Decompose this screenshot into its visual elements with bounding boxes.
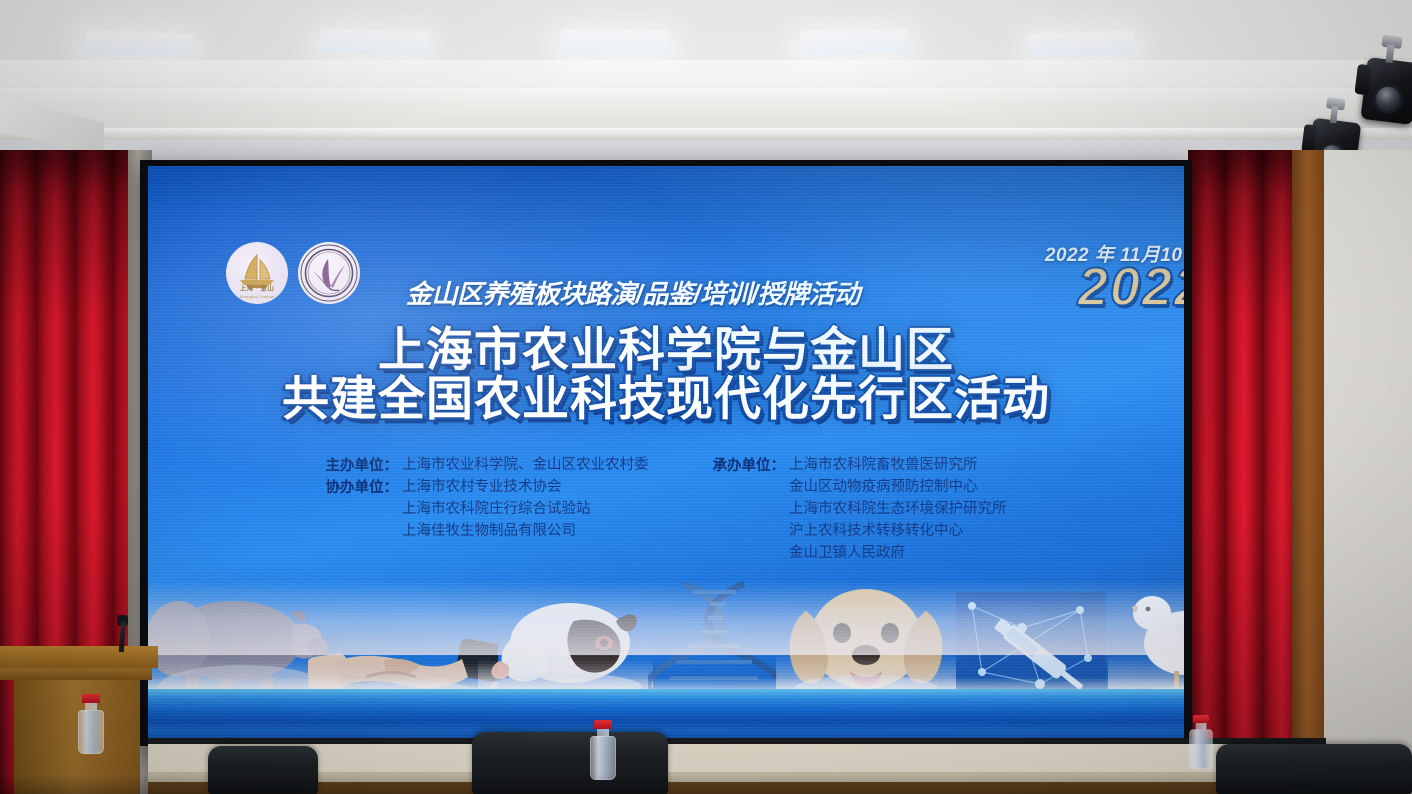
spotlight-stem xyxy=(1385,44,1394,63)
organizer-line: 金山区动物疫病预防控制中心 xyxy=(789,476,1007,498)
logo-label-cn: 上海 · 金山 xyxy=(226,282,288,292)
podium-lip xyxy=(0,668,152,680)
spotlight-stem xyxy=(1330,106,1338,123)
organizer-group: 协办单位： 上海市农村专业技术协会 上海市农科院庄行综合试验站 上海佳牧生物制品… xyxy=(326,476,649,542)
organizer-group: 主办单位： 上海市农业科学院、金山区农业农村委 xyxy=(326,454,649,476)
organizer-group: 承办单位： 上海市农科院畜牧兽医研究所 金山区动物疫病预防控制中心 上海市农科院… xyxy=(713,454,1007,564)
event-title: 上海市农业科学院与金山区 共建全国农业科技现代化先行区活动 xyxy=(148,326,1184,424)
orchid-emblem-icon xyxy=(298,242,360,304)
organizer-column-left: 主办单位： 上海市农业科学院、金山区农业农村委 协办单位： 上海市农村专业技术协… xyxy=(326,454,649,564)
organizer-line: 上海市农科院畜牧兽医研究所 xyxy=(789,454,1007,476)
organizer-label: 协办单位： xyxy=(326,476,399,542)
organizer-label: 承办单位： xyxy=(713,454,786,564)
led-screen: 上海 · 金山 Shanghai Jinshan xyxy=(148,166,1184,741)
orchid-institute-logo xyxy=(298,242,360,304)
organizer-blocks: 主办单位： 上海市农业科学院、金山区农业农村委 协办单位： 上海市农村专业技术协… xyxy=(148,454,1184,564)
ceiling-panel-light xyxy=(560,30,668,54)
event-title-line2: 共建全国农业科技现代化先行区活动 xyxy=(148,375,1184,424)
ceiling-panel-light xyxy=(799,29,908,55)
spotlight-lens xyxy=(1371,82,1404,115)
water-bottle xyxy=(590,720,616,780)
ceiling-panel-light xyxy=(1027,30,1137,58)
ceiling-panel-light xyxy=(319,29,429,55)
event-year: 2022 xyxy=(1078,260,1184,314)
bottle-body xyxy=(78,710,104,754)
podium xyxy=(0,646,148,794)
bottle-body xyxy=(1189,729,1212,769)
ceiling-lip xyxy=(0,60,1412,90)
water-bottle xyxy=(78,694,104,754)
podium-top xyxy=(0,646,158,668)
stage-spotlight-icon xyxy=(1360,57,1412,125)
floor-shadow xyxy=(0,774,1412,794)
organizer-line: 金山卫镇人民政府 xyxy=(789,542,1007,564)
organizer-values: 上海市农科院畜牧兽医研究所 金山区动物疫病预防控制中心 上海市农科院生态环境保护… xyxy=(789,454,1007,564)
wood-column-right xyxy=(1292,150,1326,794)
organizer-values: 上海市农业科学院、金山区农业农村委 xyxy=(402,454,649,476)
water-bottle xyxy=(1189,715,1212,769)
bottle-cap xyxy=(594,720,612,729)
organizer-column-right: 承办单位： 上海市农科院畜牧兽医研究所 金山区动物疫病预防控制中心 上海市农科院… xyxy=(713,454,1007,564)
strip-haze xyxy=(148,581,1184,655)
event-title-line1: 上海市农业科学院与金山区 xyxy=(148,326,1184,375)
spotlight-yoke xyxy=(1301,124,1317,153)
ceiling-panel-light xyxy=(82,30,193,58)
logo-group: 上海 · 金山 Shanghai Jinshan xyxy=(226,242,360,304)
spotlight-yoke xyxy=(1354,64,1372,95)
screen-header: 2022 年 11月10日 金山区养殖板块路演/品鉴/培训/授牌活动 2022 xyxy=(406,256,1184,316)
organizer-label: 主办单位： xyxy=(326,454,399,476)
bottle-neck xyxy=(85,703,97,710)
logo-label-en: Shanghai Jinshan xyxy=(226,294,288,299)
organizer-line: 上海佳牧生物制品有限公司 xyxy=(402,520,591,542)
led-screen-bezel: 上海 · 金山 Shanghai Jinshan xyxy=(140,160,1192,746)
water-band xyxy=(148,689,1184,741)
bottle-cap xyxy=(1193,715,1209,723)
conference-hall-photo: 上海 · 金山 Shanghai Jinshan xyxy=(0,0,1412,794)
bottle-neck xyxy=(597,729,609,736)
photo-montage-strip xyxy=(148,581,1184,741)
shanghai-jinshan-sailboat-logo: 上海 · 金山 Shanghai Jinshan xyxy=(226,242,288,304)
organizer-line: 沪上农科技术转移转化中心 xyxy=(789,520,1007,542)
event-subtitle: 金山区养殖板块路演/品鉴/培训/授牌活动 xyxy=(406,274,860,311)
organizer-line: 上海市农科院生态环境保护研究所 xyxy=(789,498,1007,520)
ceiling-edge xyxy=(0,128,1412,138)
organizer-line: 上海市农村专业技术协会 xyxy=(402,476,591,498)
bottle-cap xyxy=(82,694,100,703)
organizer-line: 上海市农业科学院、金山区农业农村委 xyxy=(402,454,649,476)
side-wall-right xyxy=(1324,150,1412,794)
organizer-values: 上海市农村专业技术协会 上海市农科院庄行综合试验站 上海佳牧生物制品有限公司 xyxy=(402,476,591,542)
organizer-line: 上海市农科院庄行综合试验站 xyxy=(402,498,591,520)
